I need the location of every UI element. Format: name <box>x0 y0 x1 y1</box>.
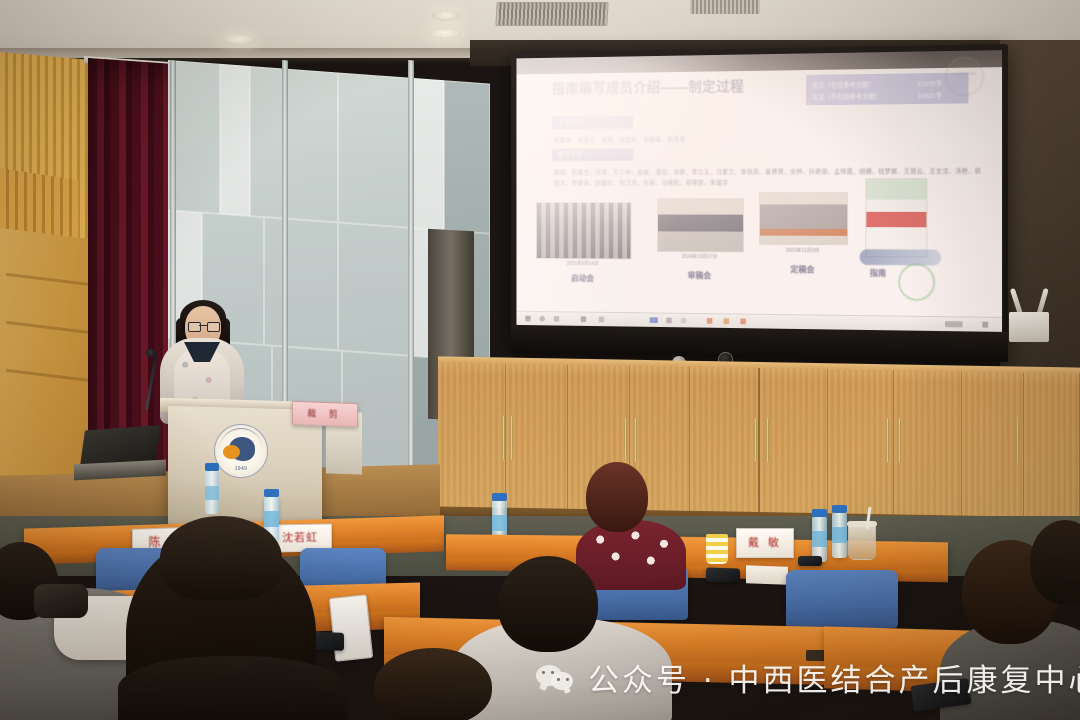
audience-head-mid-right <box>374 648 492 720</box>
word-count-box: 全文（包括参考文献） 21970字 正文（不包括参考文献） 10821字 <box>806 73 968 106</box>
thumbnail-date-0: 2021年5月14日 <box>536 260 630 267</box>
cabinet-handle[interactable] <box>502 416 505 460</box>
cabinet-handle[interactable] <box>634 418 637 462</box>
thumbnail-date-1: 2024年10月27日 <box>653 253 746 260</box>
camera-strap <box>34 584 88 618</box>
thumbnail-label-1: 审稿会 <box>653 269 746 281</box>
excel-icon[interactable] <box>740 318 746 324</box>
notification-icon[interactable] <box>982 322 988 328</box>
thumbnail-0[interactable] <box>536 202 631 259</box>
wooden-cabinet-run <box>438 362 1080 523</box>
thumbnail-1[interactable] <box>657 198 744 252</box>
explorer-icon[interactable] <box>581 316 586 322</box>
app-icon-2[interactable] <box>666 317 672 323</box>
cabinet-handle[interactable] <box>898 418 901 462</box>
thumbnail-date-2: 2023年11月3日 <box>755 247 850 254</box>
cabinet-handle[interactable] <box>624 418 627 462</box>
striped-cup[interactable] <box>706 534 728 564</box>
ceiling-downlight-1 <box>222 34 256 45</box>
podium-name-card-text: 裁 剪 <box>293 402 357 426</box>
slide-top-band <box>516 50 1002 74</box>
cabinet-handle[interactable] <box>754 418 757 462</box>
section-badge-authors: 编写专家： <box>552 148 633 161</box>
wifi-access-point <box>1009 312 1049 342</box>
iced-drink-cup[interactable] <box>848 524 876 560</box>
screen-display-area: 指南编写成员介绍——制定过程 全文（包括参考文献） 21970字 正文（不包括参… <box>516 50 1002 332</box>
cabinet-handle[interactable] <box>766 418 769 462</box>
stat-label-0: 全文（包括参考文献） <box>812 82 875 90</box>
glasses-icon <box>188 322 218 330</box>
audience-shoulders-center-left <box>118 656 348 720</box>
stat-label-1: 正文（不包括参考文献） <box>812 94 881 102</box>
app-icon-3[interactable] <box>681 318 687 324</box>
water-bottle-podium[interactable] <box>205 470 219 514</box>
photo-scene: 指南编写成员介绍——制定过程 全文（包括参考文献） 21970字 正文（不包括参… <box>0 0 1080 720</box>
guide-banner <box>860 249 941 265</box>
emblem-year: 1949 <box>215 466 267 472</box>
phone-on-desk-1[interactable] <box>706 567 740 582</box>
app-icon-1[interactable] <box>599 317 604 323</box>
thumbnail-3[interactable] <box>865 178 927 257</box>
audience-head-center-left <box>160 516 282 600</box>
word-icon[interactable] <box>724 318 730 324</box>
slide-title: 指南编写成员介绍——制定过程 <box>552 76 744 99</box>
thumbnail-label-3: 指南 <box>858 267 898 279</box>
ppt-icon[interactable] <box>707 318 713 324</box>
start-icon[interactable] <box>525 316 530 322</box>
hospital-emblem-icon: 1949 <box>214 424 268 478</box>
screen-bezel-chin <box>511 325 1008 362</box>
presentation-slide: 指南编写成员介绍——制定过程 全文（包括参考文献） 21970字 正文（不包括参… <box>516 50 1002 332</box>
chair-4[interactable] <box>786 570 898 628</box>
section-badge-reviewers: 主审专家： <box>552 116 633 129</box>
ceiling-downlight-3 <box>432 10 460 21</box>
name-card-front-right: 戴 敏 <box>736 528 794 558</box>
stat-value-1: 10821字 <box>918 90 942 100</box>
cabinet-handle[interactable] <box>1016 418 1019 462</box>
audience-person-head-center2 <box>498 556 598 652</box>
audience-person-head-center <box>586 462 648 532</box>
clock-display[interactable] <box>945 321 963 327</box>
thumbnail-2[interactable] <box>759 192 848 245</box>
thumbnail-label-2: 定稿会 <box>755 263 850 275</box>
browser-icon[interactable] <box>650 317 658 323</box>
paper-on-desk <box>746 565 788 584</box>
thumbnail-label-0: 启动会 <box>536 272 630 284</box>
water-bottle-4[interactable] <box>832 512 847 558</box>
guide-seal-icon <box>898 263 935 301</box>
search-icon[interactable] <box>540 316 545 322</box>
audience-person-shoulders-center <box>576 520 686 590</box>
name-card-text-2: 戴 敏 <box>737 529 793 557</box>
projection-screen[interactable]: 指南编写成员介绍——制定过程 全文（包括参考文献） 21970字 正文（不包括参… <box>511 44 1008 362</box>
cabinet-handle[interactable] <box>886 418 889 462</box>
phone-on-desk-2[interactable] <box>798 556 822 566</box>
podium-name-card: 裁 剪 <box>292 401 358 427</box>
cabinet-handle[interactable] <box>510 416 513 460</box>
stat-value-0: 21970字 <box>918 78 942 88</box>
air-vent-secondary-icon <box>690 0 760 14</box>
taskview-icon[interactable] <box>554 316 559 322</box>
ceiling-downlight-2 <box>428 28 462 39</box>
smartphone-held[interactable] <box>329 594 373 662</box>
reviewer-names: 黄素英、李连月、谢瑶、胡国华、张伯英、赵月先 <box>554 133 831 144</box>
air-vent-icon <box>495 2 608 26</box>
